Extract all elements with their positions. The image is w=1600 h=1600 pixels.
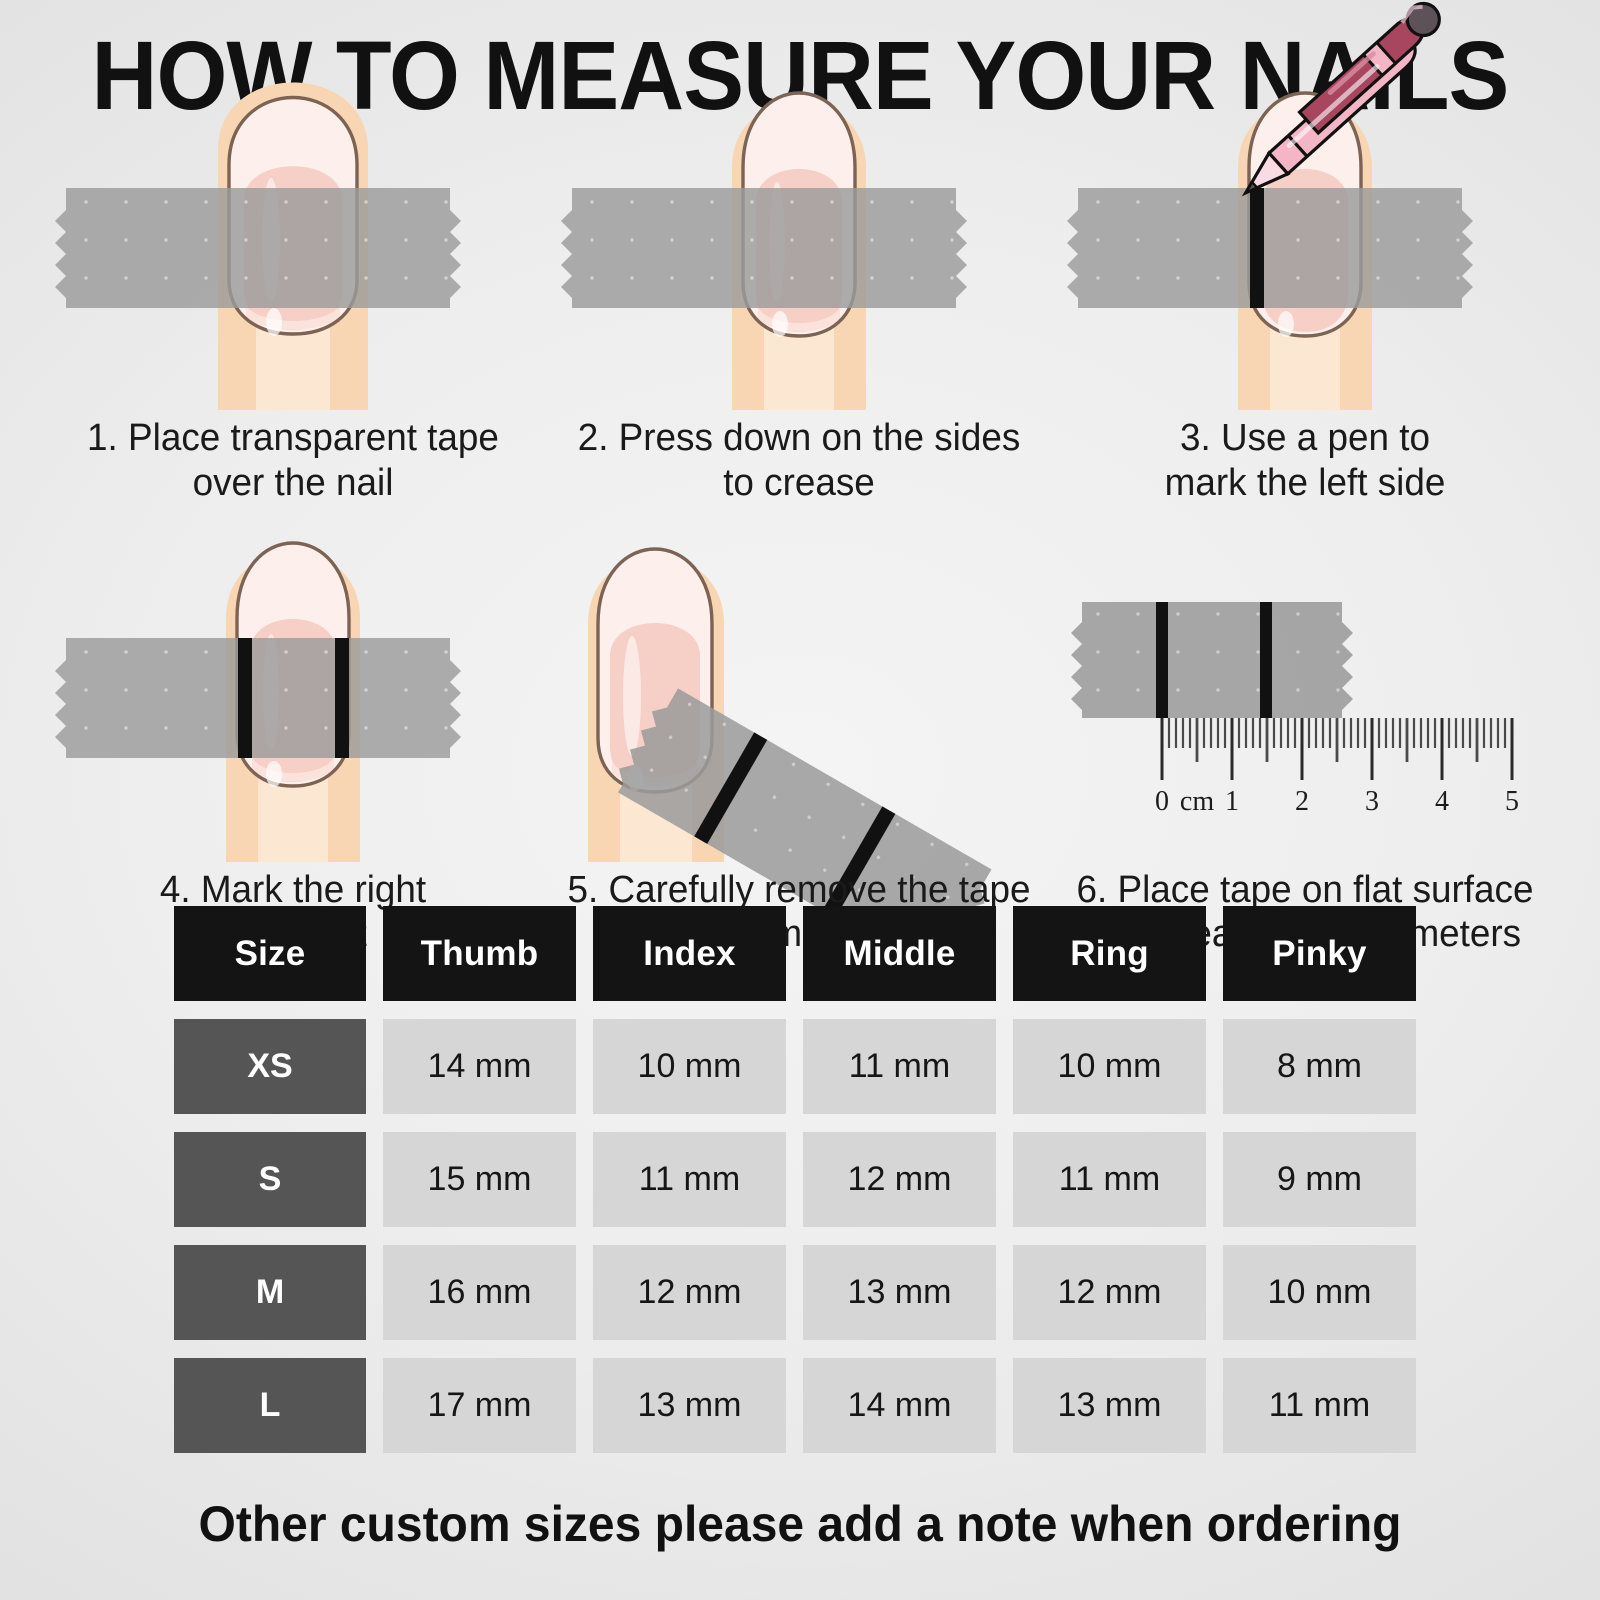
- cell-ring: 10 mm: [1013, 1019, 1206, 1114]
- step-1: 1. Place transparent tape over the nail: [40, 120, 546, 506]
- table-header-thumb: Thumb: [383, 906, 576, 1001]
- ruler-tick-0: 0: [1155, 786, 1169, 817]
- table-header-pinky: Pinky: [1223, 906, 1416, 1001]
- step-3-illustration: [1052, 120, 1558, 410]
- size-label: S: [174, 1132, 366, 1227]
- cell-index: 13 mm: [593, 1358, 786, 1453]
- cell-thumb: 15 mm: [383, 1132, 576, 1227]
- cell-thumb: 14 mm: [383, 1019, 576, 1114]
- table-row: L 17 mm 13 mm 14 mm 13 mm 11 mm: [174, 1358, 1436, 1453]
- size-label: XS: [174, 1019, 366, 1114]
- tape-strip-3: [1067, 188, 1473, 308]
- size-table: Size Thumb Index Middle Ring Pinky XS 14…: [174, 906, 1436, 1471]
- cell-thumb: 17 mm: [383, 1358, 576, 1453]
- table-row: S 15 mm 11 mm 12 mm 11 mm 9 mm: [174, 1132, 1436, 1227]
- step-5: 5. Carefully remove the tape from nail: [546, 570, 1052, 958]
- step-4-illustration: [40, 570, 546, 862]
- cell-ring: 12 mm: [1013, 1245, 1206, 1340]
- size-label: M: [174, 1245, 366, 1340]
- cell-middle: 12 mm: [803, 1132, 996, 1227]
- cell-middle: 14 mm: [803, 1358, 996, 1453]
- cell-index: 10 mm: [593, 1019, 786, 1114]
- cell-thumb: 16 mm: [383, 1245, 576, 1340]
- ruler-tick-4: 4: [1435, 786, 1449, 817]
- table-header-middle: Middle: [803, 906, 996, 1001]
- tape-strip-4: [55, 638, 461, 758]
- table-header-row: Size Thumb Index Middle Ring Pinky: [174, 906, 1436, 1001]
- ruler: 0 cm 1 2 3 4 5: [1155, 718, 1519, 817]
- table-row: XS 14 mm 10 mm 11 mm 10 mm 8 mm: [174, 1019, 1436, 1114]
- cell-ring: 11 mm: [1013, 1132, 1206, 1227]
- size-label: L: [174, 1358, 366, 1453]
- cell-index: 12 mm: [593, 1245, 786, 1340]
- step-3-caption-line1: 3. Use a pen to: [1063, 416, 1546, 461]
- table-header-size: Size: [174, 906, 366, 1001]
- step-3: 3. Use a pen to mark the left side: [1052, 120, 1558, 506]
- table-header-index: Index: [593, 906, 786, 1001]
- step-2-caption-line2: to crease: [557, 461, 1040, 506]
- ruler-unit-label: cm: [1180, 786, 1214, 817]
- steps-row-1: 1. Place transparent tape over the nail: [40, 120, 1560, 506]
- step-1-caption-line1: 1. Place transparent tape: [51, 416, 534, 461]
- tape-strip-1: [55, 188, 461, 308]
- step-6-illustration: 0 cm 1 2 3 4 5: [1052, 570, 1558, 862]
- ruler-tick-2: 2: [1295, 786, 1309, 817]
- cell-pinky: 9 mm: [1223, 1132, 1416, 1227]
- step-1-illustration: [40, 120, 546, 410]
- step-4: 4. Mark the right side next: [40, 570, 546, 958]
- ruler-tick-5: 5: [1505, 786, 1519, 817]
- step-1-caption-line2: over the nail: [51, 461, 534, 506]
- cell-pinky: 8 mm: [1223, 1019, 1416, 1114]
- steps-row-2: 4. Mark the right side next: [40, 570, 1560, 958]
- step-3-caption: 3. Use a pen to mark the left side: [1060, 410, 1551, 506]
- step-2-caption: 2. Press down on the sides to crease: [554, 410, 1045, 506]
- step-1-caption: 1. Place transparent tape over the nail: [48, 410, 539, 506]
- cell-middle: 13 mm: [803, 1245, 996, 1340]
- step-6: 0 cm 1 2 3 4 5 6. Place tape on flat: [1052, 570, 1558, 958]
- cell-middle: 11 mm: [803, 1019, 996, 1114]
- step-2-illustration: [546, 120, 1052, 410]
- cell-index: 11 mm: [593, 1132, 786, 1227]
- footer-note: Other custom sizes please add a note whe…: [32, 1495, 1568, 1553]
- tape-strip-6: [1071, 602, 1353, 718]
- step-3-caption-line2: mark the left side: [1063, 461, 1546, 506]
- steps-container: 1. Place transparent tape over the nail: [40, 120, 1560, 957]
- left-mark-line: [1250, 188, 1264, 308]
- step-2-caption-line1: 2. Press down on the sides: [557, 416, 1040, 461]
- step-5-illustration: [546, 570, 1052, 862]
- cell-ring: 13 mm: [1013, 1358, 1206, 1453]
- step-2: 2. Press down on the sides to crease: [546, 120, 1052, 506]
- infographic-root: HOW TO MEASURE YOUR NAILS: [0, 0, 1600, 1600]
- table-row: M 16 mm 12 mm 13 mm 12 mm 10 mm: [174, 1245, 1436, 1340]
- ruler-tick-3: 3: [1365, 786, 1379, 817]
- left-mark-line: [238, 638, 252, 758]
- cell-pinky: 11 mm: [1223, 1358, 1416, 1453]
- table-header-ring: Ring: [1013, 906, 1206, 1001]
- cell-pinky: 10 mm: [1223, 1245, 1416, 1340]
- tape-strip-2: [561, 188, 967, 308]
- right-mark-line: [335, 638, 349, 758]
- ruler-tick-1: 1: [1225, 786, 1239, 817]
- tape-mark-left: [1156, 602, 1168, 718]
- tape-mark-right: [1260, 602, 1272, 718]
